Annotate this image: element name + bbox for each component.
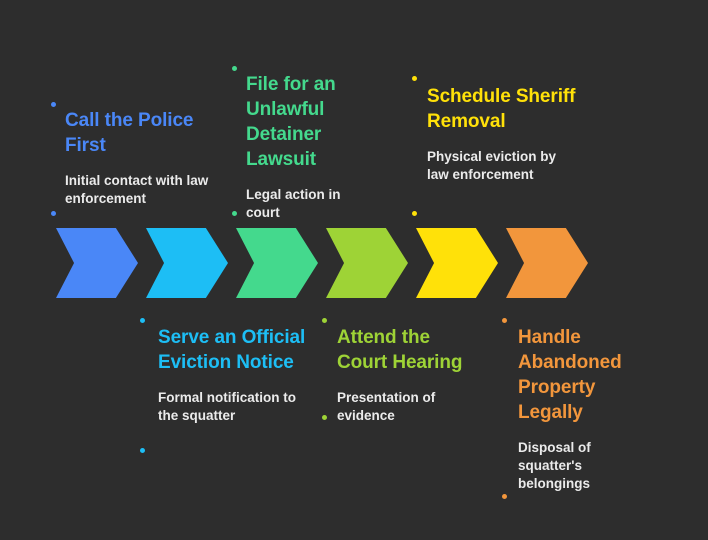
connector-dot-step-6-lower (502, 494, 507, 499)
step-description-4: Presentation of evidence (337, 389, 472, 425)
connector-dot-step-3-lower (232, 211, 237, 216)
step-title-2: Serve an Official Eviction Notice (158, 325, 313, 375)
infographic-canvas: Call the Police First Initial contact wi… (0, 0, 708, 540)
step-description-3: Legal action in court (246, 186, 371, 222)
chevron-step-2 (146, 228, 228, 298)
chevron-step-4 (326, 228, 408, 298)
connector-dot-step-1-upper (51, 102, 56, 107)
step-label-3: File for an Unlawful Detainer Lawsuit Le… (246, 72, 371, 222)
step-description-2: Formal notification to the squatter (158, 389, 313, 425)
connector-dot-step-5-upper (412, 76, 417, 81)
step-label-4: Attend the Court Hearing Presentation of… (337, 325, 472, 425)
chevron-step-3 (236, 228, 318, 298)
step-title-3: File for an Unlawful Detainer Lawsuit (246, 72, 371, 172)
step-title-1: Call the Police First (65, 108, 215, 158)
step-label-5: Schedule Sheriff Removal Physical evicti… (427, 84, 577, 184)
step-label-1: Call the Police First Initial contact wi… (65, 108, 215, 208)
step-label-6: Handle Abandoned Property Legally Dispos… (518, 325, 633, 493)
step-description-1: Initial contact with law enforcement (65, 172, 215, 208)
step-title-4: Attend the Court Hearing (337, 325, 472, 375)
step-label-2: Serve an Official Eviction Notice Formal… (158, 325, 313, 425)
connector-dot-step-4-upper (322, 318, 327, 323)
connector-dot-step-3-upper (232, 66, 237, 71)
connector-dot-step-1-lower (51, 211, 56, 216)
chevron-step-5 (416, 228, 498, 298)
connector-dot-step-5-lower (412, 211, 417, 216)
chevron-step-1 (56, 228, 138, 298)
connector-dot-step-2-upper (140, 318, 145, 323)
step-description-5: Physical eviction by law enforcement (427, 148, 577, 184)
connector-dot-step-6-upper (502, 318, 507, 323)
step-title-6: Handle Abandoned Property Legally (518, 325, 633, 425)
connector-dot-step-2-lower (140, 448, 145, 453)
step-description-6: Disposal of squatter's belongings (518, 439, 633, 493)
connector-dot-step-4-lower (322, 415, 327, 420)
step-title-5: Schedule Sheriff Removal (427, 84, 577, 134)
chevron-step-6 (506, 228, 588, 298)
